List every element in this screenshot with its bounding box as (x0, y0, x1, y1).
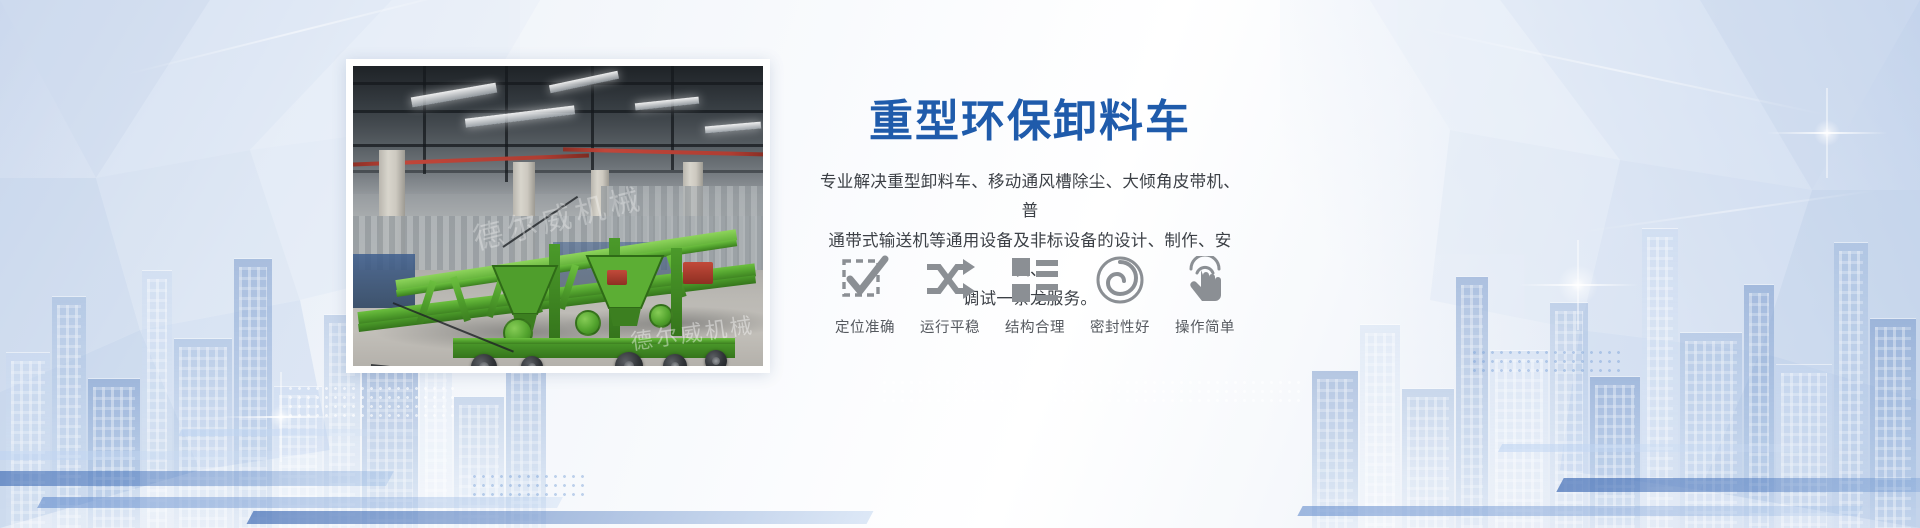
feature-list: 定位准确 运行平稳 (826, 252, 1244, 337)
feature-label: 运行平稳 (911, 316, 989, 337)
feature-item-stability[interactable]: 运行平稳 (911, 252, 989, 337)
layout-blocks-icon (996, 252, 1074, 308)
feature-item-structure[interactable]: 结构合理 (996, 252, 1074, 337)
feature-item-sealing[interactable]: 密封性好 (1081, 252, 1159, 337)
feature-label: 结构合理 (996, 316, 1074, 337)
hero-banner: 德尔威机械 德尔威机械 重型环保卸料车 专业解决重型卸料车、移动通风槽除尘、大倾… (0, 0, 1920, 528)
feature-label: 操作简单 (1166, 316, 1244, 337)
tap-hand-icon (1166, 252, 1244, 308)
banner-content: 德尔威机械 德尔威机械 重型环保卸料车 专业解决重型卸料车、移动通风槽除尘、大倾… (0, 0, 1920, 528)
rail-wheel (705, 350, 727, 366)
subtitle-line: 专业解决重型卸料车、移动通风槽除尘、大倾角皮带机、普 (820, 168, 1240, 227)
feature-item-operation[interactable]: 操作简单 (1166, 252, 1244, 337)
feature-label: 密封性好 (1081, 316, 1159, 337)
banner-title: 重型环保卸料车 (820, 96, 1240, 148)
checkbox-check-icon (826, 252, 904, 308)
shuffle-arrows-icon (911, 252, 989, 308)
product-photo: 德尔威机械 德尔威机械 (353, 66, 763, 366)
seal-swirl-icon (1081, 252, 1159, 308)
product-photo-card: 德尔威机械 德尔威机械 (346, 59, 770, 373)
feature-item-positioning[interactable]: 定位准确 (826, 252, 904, 337)
feature-label: 定位准确 (826, 316, 904, 337)
